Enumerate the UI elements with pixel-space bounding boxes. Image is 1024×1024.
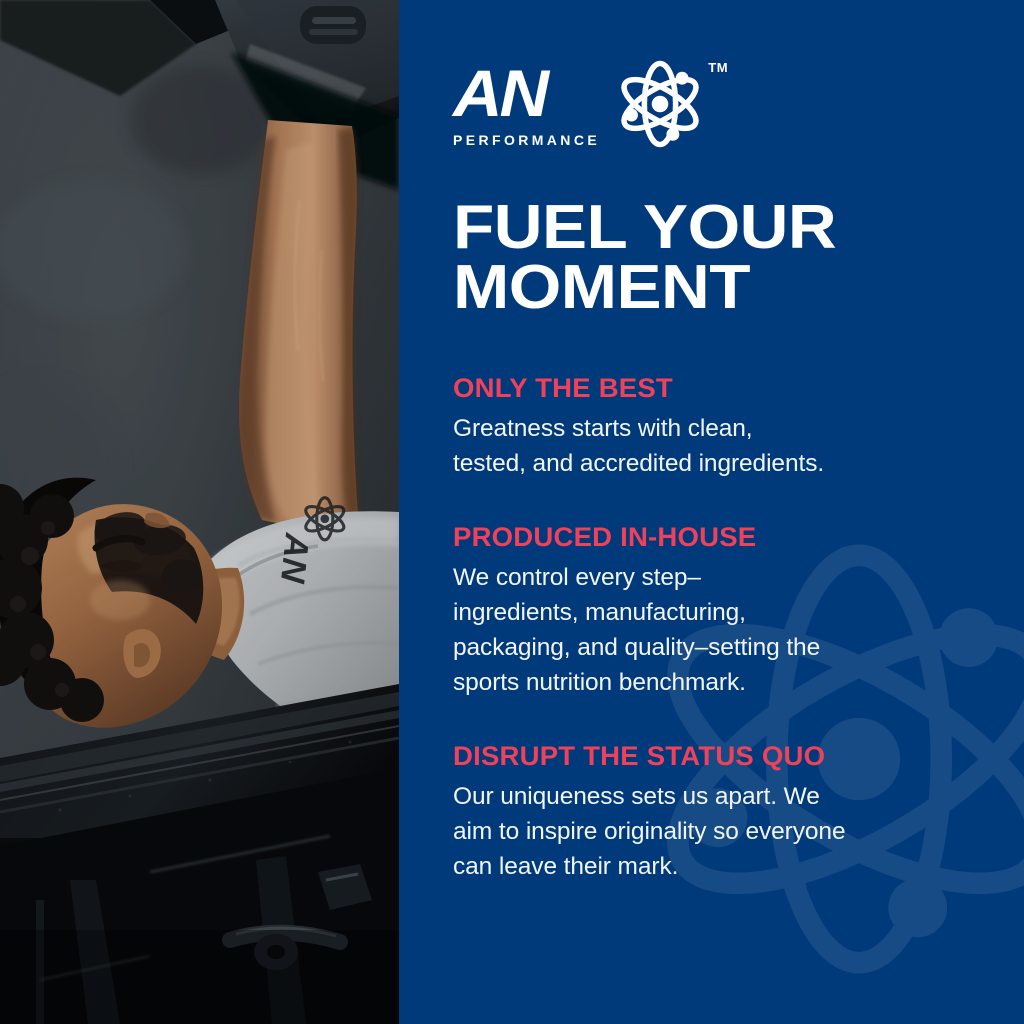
brand-tagline: PERFORMANCE	[453, 132, 600, 148]
marketing-banner: AN	[0, 0, 1024, 1024]
feature-title: ONLY THE BEST	[453, 372, 970, 404]
atom-logo: TM	[614, 58, 706, 150]
brand-wordmark-block: AN PERFORMANCE	[453, 62, 600, 148]
feature-list: ONLY THE BEST Greatness starts with clea…	[453, 372, 960, 884]
feature-item: DISRUPT THE STATUS QUO Our uniqueness se…	[453, 740, 960, 884]
hero-photo: AN	[0, 0, 399, 1024]
athlete-bench-press-illustration: AN	[0, 0, 399, 1024]
content-panel: AN PERFORMANCE TM	[399, 0, 1024, 1024]
trademark-symbol: TM	[708, 60, 728, 75]
feature-body: We control every step– ingredients, manu…	[453, 560, 960, 700]
atom-icon	[614, 58, 706, 150]
feature-title: PRODUCED IN-HOUSE	[453, 521, 970, 553]
brand-wordmark: AN	[453, 68, 606, 119]
feature-body: Our uniqueness sets us apart. We aim to …	[453, 779, 960, 884]
brand-logo: AN PERFORMANCE TM	[453, 62, 960, 180]
feature-item: PRODUCED IN-HOUSE We control every step–…	[453, 521, 960, 700]
feature-item: ONLY THE BEST Greatness starts with clea…	[453, 372, 960, 481]
feature-body: Greatness starts with clean, tested, and…	[453, 411, 960, 481]
page-title: FUEL YOUR MOMENT	[453, 198, 1006, 318]
feature-title: DISRUPT THE STATUS QUO	[453, 740, 970, 772]
